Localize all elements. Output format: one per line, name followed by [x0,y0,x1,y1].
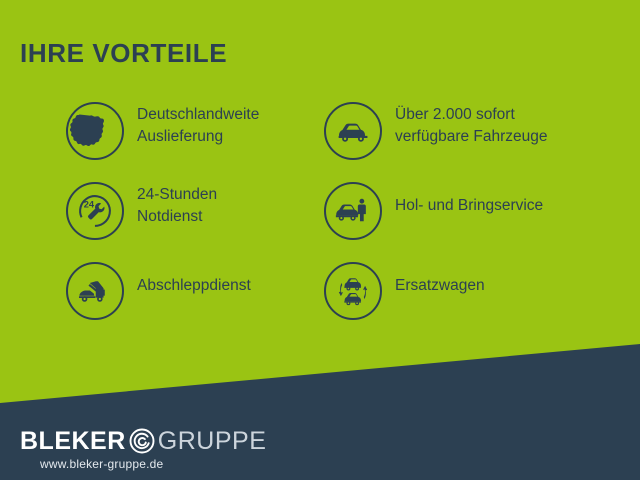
feature-label: Über 2.000 sofort verfügbare Fahrzeuge [395,104,640,148]
features-left-column: Deutschlandweite Auslieferung 24 24-Stun… [66,96,316,336]
feature-item-ersatzwagen: Ersatzwagen [324,256,624,336]
feature-item-verfuegbare-fahrzeuge: Über 2.000 sofort verfügbare Fahrzeuge [324,96,624,176]
page-title: IHRE VORTEILE [20,38,227,68]
two-cars-exchange-icon [324,262,382,320]
slide-canvas: IHRE VORTEILE Deutschlandweite Ausliefer… [0,0,640,480]
feature-label-line1: 24-Stunden [137,186,217,203]
feature-label-line1: Ersatzwagen [395,277,485,294]
car-with-person-icon [324,182,382,240]
feature-label-line1: Deutschlandweite [137,106,259,123]
feature-label-line2: Auslieferung [137,128,223,145]
germany-map-icon [66,102,124,160]
svg-text:24: 24 [84,199,95,209]
feature-label-line1: Über 2.000 sofort [395,106,515,123]
feature-item-24-stunden-notdienst: 24 24-Stunden Notdienst [66,176,316,256]
feature-label: Hol- und Bringservice [395,195,640,217]
feature-item-abschleppdienst: Abschleppdienst [66,256,316,336]
feature-label-line1: Abschleppdienst [137,277,251,294]
feature-label-line2: verfügbare Fahrzeuge [395,128,548,145]
feature-label-line2: Notdienst [137,208,202,225]
feature-label: Ersatzwagen [395,275,640,297]
brand-logo: BLEKER GRUPPE [20,424,266,458]
tow-truck-icon [66,262,124,320]
logo-secondary-text: GRUPPE [158,426,267,456]
feature-item-hol-und-bringservice: Hol- und Bringservice [324,176,624,256]
features-right-column: Über 2.000 sofort verfügbare Fahrzeuge [324,96,624,336]
car-icon [324,102,382,160]
feature-item-deutschlandweite-auslieferung: Deutschlandweite Auslieferung [66,96,316,176]
website-url: www.bleker-gruppe.de [40,457,163,471]
spiral-logo-icon [127,426,157,456]
clock-24-wrench-icon: 24 [66,182,124,240]
logo-primary-text: BLEKER [20,426,126,456]
feature-label-line1: Hol- und Bringservice [395,197,543,214]
